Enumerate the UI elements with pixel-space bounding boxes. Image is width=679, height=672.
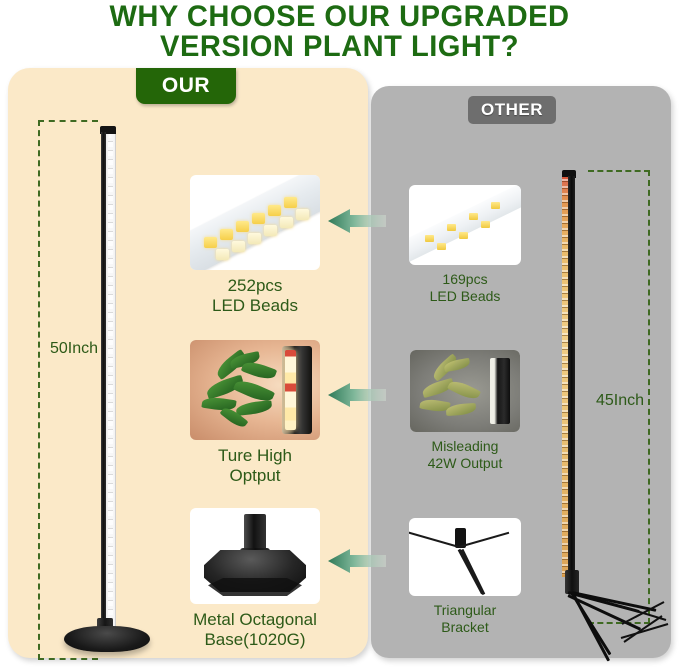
led-bead [296,209,309,220]
led-bead [220,229,233,240]
led-bead [232,241,245,252]
led-bead [425,235,434,242]
comparison-arrow-icon [328,548,386,574]
other-feature-output: Misleading 42W Output [402,350,528,472]
bar-lamp-body [490,358,510,424]
other-feature-bracket: Triangular Bracket [402,518,528,636]
comparison-arrow-icon [328,208,386,234]
led-bead [481,221,490,228]
our-feature-base: Metal Octagonal Base(1020G) [185,508,325,650]
other-feature-bracket-caption: Triangular Bracket [402,602,528,636]
led-bead [284,197,297,208]
led-strip-dense-icon [190,175,320,270]
other-lamp-pole [568,176,575,578]
our-lamp-led-beads [108,138,113,630]
bracket-leg [409,531,459,548]
other-badge: OTHER [468,96,556,124]
bracket-sketch-icon [618,598,670,644]
page-title-line-2: VERSION PLANT LIGHT? [10,32,669,62]
led-bead [248,233,261,244]
other-feature-led-beads: 169pcs LED Beads [402,185,528,305]
our-feature-base-caption: Metal Octagonal Base(1020G) [185,610,325,650]
our-feature-output: Ture High Optput [185,340,325,486]
led-strip-sparse-icon [409,185,521,265]
our-dimension-label: 50Inch [50,340,98,358]
led-bead [236,221,249,232]
octagonal-base-icon [190,508,320,604]
led-bead [216,249,229,260]
led-bead [469,213,478,220]
led-bead [491,202,500,209]
led-bead [204,237,217,248]
base-octagon-rim [208,578,302,596]
led-bead [252,213,265,224]
bar-lamp-led [285,350,296,430]
led-bead [280,217,293,228]
other-feature-output-caption: Misleading 42W Output [402,438,528,472]
tripod-bracket-icon [409,518,521,596]
our-feature-output-caption: Ture High Optput [185,446,325,486]
our-feature-led-beads: 252pcs LED Beads [185,175,325,316]
comparison-arrow-icon [328,382,386,408]
our-dimension-bracket [38,120,98,660]
bracket-leg [459,532,510,548]
other-feature-led-beads-caption: 169pcs LED Beads [402,271,528,305]
led-bead [459,232,468,239]
bar-lamp-body [282,346,312,434]
bracket-leg [461,549,486,595]
led-bead [437,243,446,250]
our-badge: OUR [136,68,236,104]
led-bead [264,225,277,236]
page-title: WHY CHOOSE OUR UPGRADED VERSION PLANT LI… [10,2,669,62]
page-title-line-1: WHY CHOOSE OUR UPGRADED [10,2,669,32]
other-dimension-label: 45Inch [596,392,644,410]
led-bead [447,224,456,231]
plant-under-dim-light-icon [410,350,520,432]
led-bead [268,205,281,216]
plant-under-bright-light-icon [190,340,320,440]
led-strip-body [409,185,521,263]
our-feature-led-beads-caption: 252pcs LED Beads [185,276,325,316]
our-lamp-base [64,626,150,652]
